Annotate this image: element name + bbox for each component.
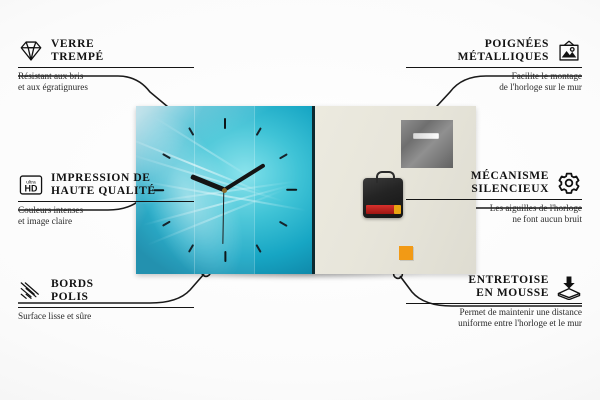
svg-text:HD: HD bbox=[25, 184, 38, 194]
feature-title-line1: VERRE bbox=[51, 38, 104, 51]
feature-rule bbox=[406, 67, 582, 68]
clock-hour-hand bbox=[190, 174, 225, 192]
feature-rule bbox=[406, 303, 582, 304]
feature-desc-line1: Couleurs intenses bbox=[18, 205, 194, 216]
feature-title-line1: BORDS bbox=[51, 278, 94, 291]
feature-title-line2: SILENCIEUX bbox=[471, 183, 549, 196]
feature-desc-line2: ne font aucun bruit bbox=[406, 214, 582, 225]
clock-mechanism bbox=[363, 178, 403, 218]
metal-hanger-plate bbox=[401, 120, 453, 168]
feature-entretoise-en-mousse: ENTRETOISE EN MOUSSE Permet de maintenir… bbox=[406, 274, 582, 329]
clock-minute-hand bbox=[223, 163, 266, 191]
feature-title-line1: ENTRETOISE bbox=[468, 274, 549, 287]
feature-title-line2: HAUTE QUALITÉ bbox=[51, 185, 156, 198]
feature-bords-polis: BORDS POLIS Surface lisse et sûre bbox=[18, 278, 194, 322]
gear-icon bbox=[556, 170, 582, 196]
feature-desc-line2: et image claire bbox=[18, 216, 194, 227]
foam-spacer bbox=[399, 246, 413, 260]
feature-rule bbox=[18, 67, 194, 68]
polished-edges-icon bbox=[18, 278, 44, 304]
feature-title-line1: IMPRESSION DE bbox=[51, 172, 156, 185]
arrow-onto-pad-icon bbox=[556, 274, 582, 300]
feature-poignees-metalliques: POIGNÉES MÉTALLIQUES Facilite le montage… bbox=[406, 38, 582, 93]
feature-desc-line1: Permet de maintenir une distance bbox=[406, 307, 582, 318]
feature-desc-line1: Résistant aux bris bbox=[18, 71, 194, 82]
ultra-hd-badge-icon: ultra HD bbox=[18, 172, 44, 198]
feature-desc-line2: et aux égratignures bbox=[18, 82, 194, 93]
feature-title-line2: MÉTALLIQUES bbox=[458, 51, 549, 64]
feature-mecanisme-silencieux: MÉCANISME SILENCIEUX Les aiguilles de l'… bbox=[406, 170, 582, 225]
feature-title-line2: TREMPÉ bbox=[51, 51, 104, 64]
feature-title-line2: EN MOUSSE bbox=[468, 287, 549, 300]
feature-title-line2: POLIS bbox=[51, 291, 94, 304]
feature-title-line1: MÉCANISME bbox=[471, 170, 549, 183]
hanging-frame-icon bbox=[556, 38, 582, 64]
diamond-icon bbox=[18, 38, 44, 64]
feature-rule bbox=[18, 307, 194, 308]
feature-desc-line1: Surface lisse et sûre bbox=[18, 311, 194, 322]
feature-verre-trempe: VERRE TREMPÉ Résistant aux bris et aux é… bbox=[18, 38, 194, 93]
feature-rule bbox=[18, 201, 194, 202]
infographic-stage: VERRE TREMPÉ Résistant aux bris et aux é… bbox=[0, 0, 600, 400]
feature-impression-haute-qualite: ultra HD IMPRESSION DE HAUTE QUALITÉ Cou… bbox=[18, 172, 194, 227]
feature-desc-line1: Facilite le montage bbox=[406, 71, 582, 82]
feature-title-line1: POIGNÉES bbox=[458, 38, 549, 51]
feature-rule bbox=[406, 199, 582, 200]
feature-desc-line2: uniforme entre l'horloge et le mur bbox=[406, 318, 582, 329]
clock-second-hand bbox=[222, 190, 224, 244]
feature-desc-line1: Les aiguilles de l'horloge bbox=[406, 203, 582, 214]
feature-desc-line2: de l'horloge sur le mur bbox=[406, 82, 582, 93]
clock-center-cap bbox=[222, 188, 227, 193]
